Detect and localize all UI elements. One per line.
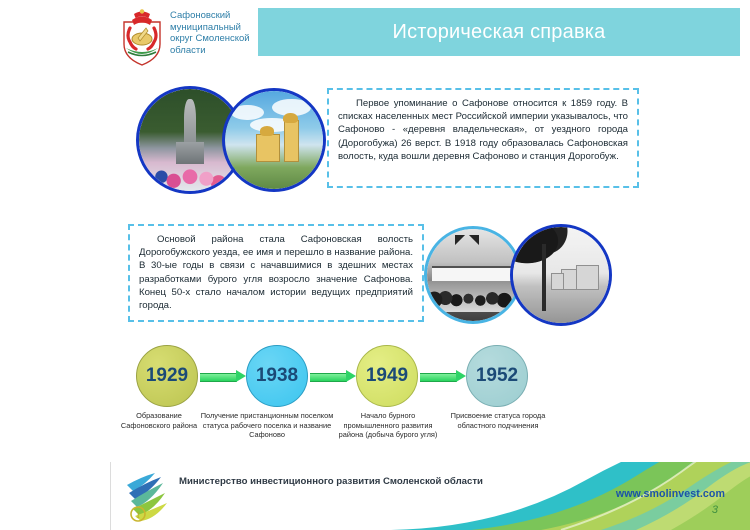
organization-name: Сафоновский муниципальный округ Смоленск… xyxy=(170,10,265,56)
timeline-year-1938: 1938 xyxy=(246,345,308,407)
history-text-block-1: Первое упоминание о Сафонове относится к… xyxy=(327,88,639,188)
mine-photo xyxy=(424,226,522,324)
timeline-caption-1929: Образование Сафоновского района xyxy=(114,411,204,430)
timeline-caption-1952: Присвоение статуса города областного под… xyxy=(446,411,550,430)
timeline-caption-1938: Получение пристанционным поселком статус… xyxy=(200,411,334,440)
slide-root: Сафоновский муниципальный округ Смоленск… xyxy=(0,0,750,530)
top-photo-pair xyxy=(136,86,326,194)
timeline-arrow-1 xyxy=(200,372,246,381)
timeline-year-1949: 1949 xyxy=(356,345,418,407)
timeline-node-1929[interactable]: 1929 xyxy=(136,345,198,407)
website-url[interactable]: www.smolinvest.com xyxy=(616,488,725,500)
timeline-year-1929: 1929 xyxy=(136,345,198,407)
page-number: 3 xyxy=(712,504,718,516)
timeline-year-1952: 1952 xyxy=(466,345,528,407)
history-text-2: Основой района стала Сафоновская волость… xyxy=(139,233,413,312)
timeline: 1929 1938 1949 1952 Образование Сафоновс… xyxy=(118,345,588,455)
slide-title-bar: Историческая справка xyxy=(258,8,740,56)
timeline-node-1952[interactable]: 1952 xyxy=(466,345,528,407)
timeline-arrow-3 xyxy=(420,372,466,381)
middle-photo-pair xyxy=(424,224,620,324)
timeline-caption-1949: Начало бурного промышленного развития ра… xyxy=(333,411,443,440)
timeline-node-1949[interactable]: 1949 xyxy=(356,345,418,407)
smolensk-coat-of-arms-icon xyxy=(118,8,166,66)
history-text-block-2: Основой района стала Сафоновская волость… xyxy=(128,224,424,322)
footer: 1 Министерство инвестиционного развития … xyxy=(110,462,750,530)
timeline-arrow-2 xyxy=(310,372,356,381)
church-photo xyxy=(222,88,326,192)
town-photo xyxy=(510,224,612,326)
ministry-bird-logo-icon: 1 xyxy=(121,469,175,523)
svg-text:1: 1 xyxy=(136,510,141,520)
page-title: Историческая справка xyxy=(258,8,740,56)
history-text-1: Первое упоминание о Сафонове относится к… xyxy=(338,97,628,163)
ministry-name: Министерство инвестиционного развития См… xyxy=(179,476,483,488)
timeline-node-1938[interactable]: 1938 xyxy=(246,345,308,407)
